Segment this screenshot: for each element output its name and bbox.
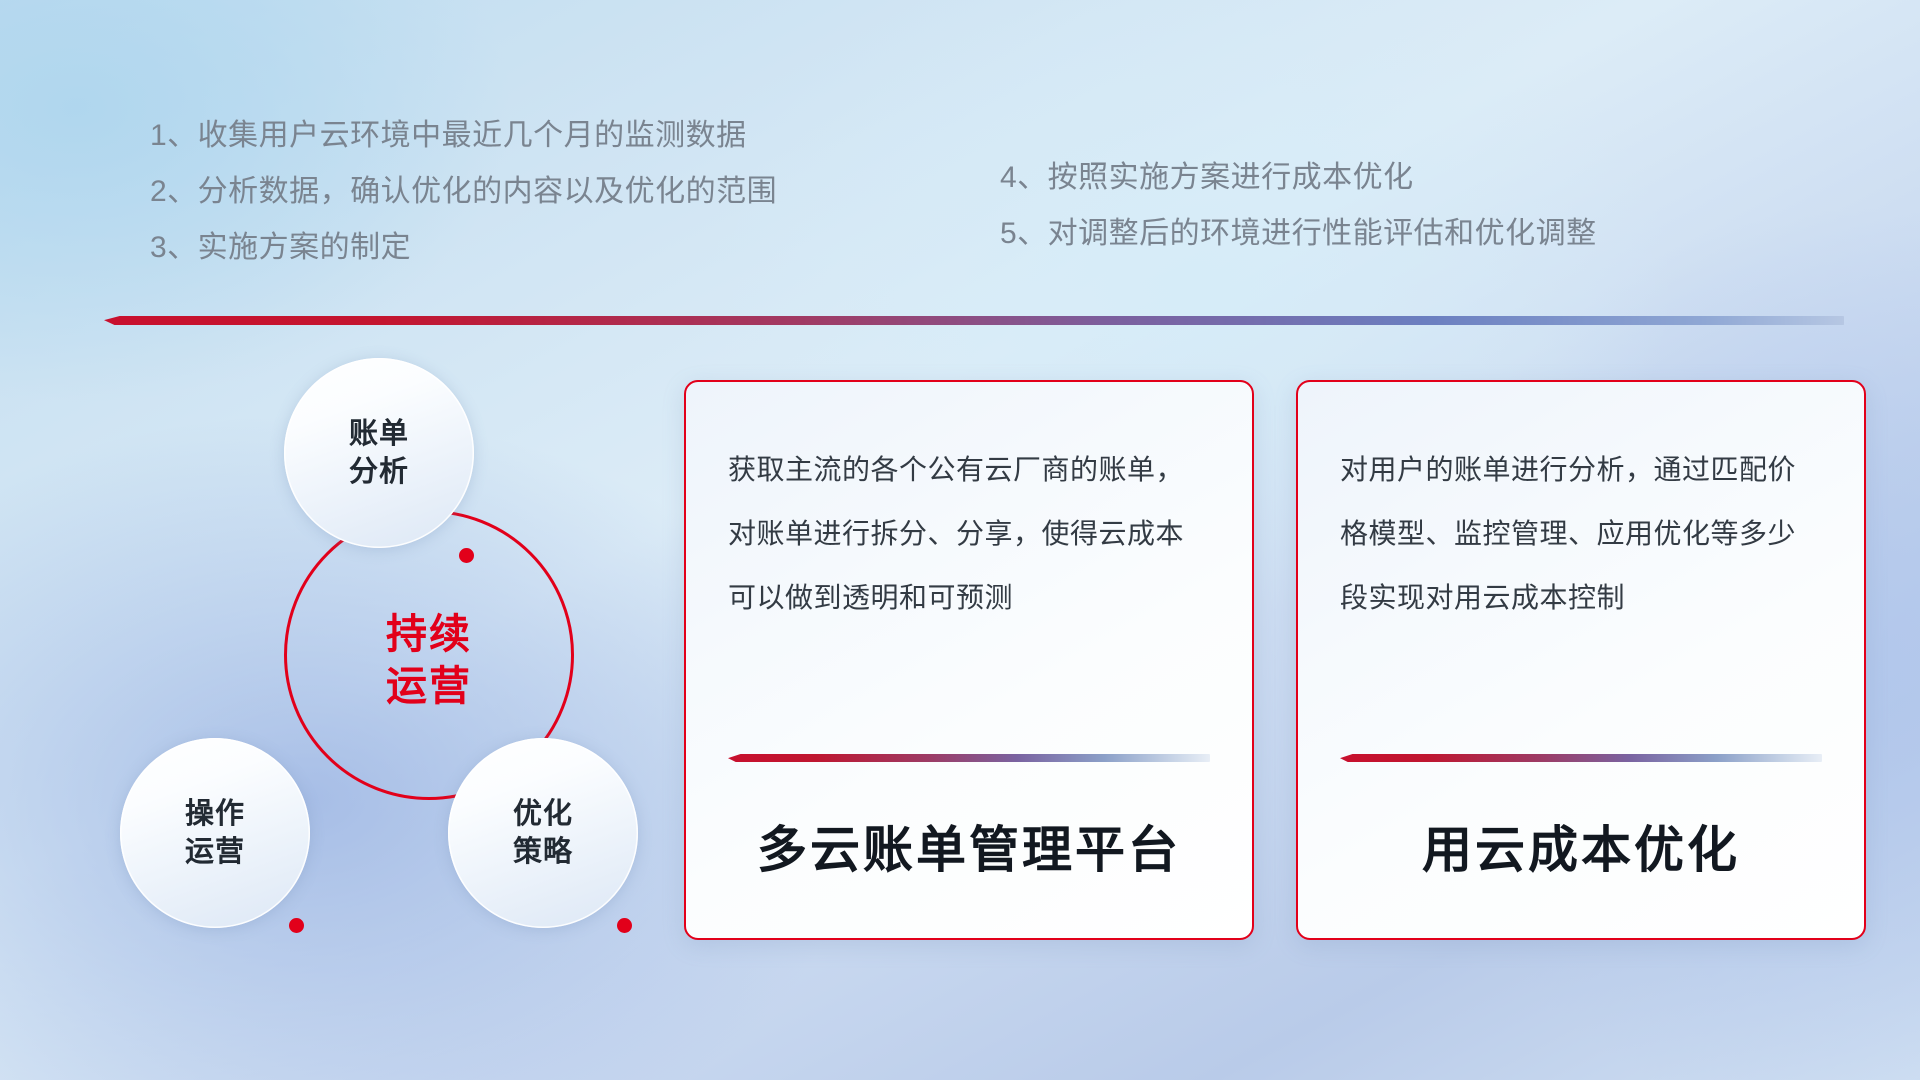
feature-card-cost-optimization[interactable]: 对用户的账单进行分析，通过匹配价格模型、监控管理、应用优化等多少段实现对用云成本… (1296, 380, 1866, 940)
venn-center-label: 持续 运营 (284, 605, 574, 715)
venn-center-line1: 持续 (386, 611, 472, 657)
feature-card-billing-platform[interactable]: 获取主流的各个公有云厂商的账单，对账单进行拆分、分享，使得云成本可以做到透明和可… (684, 380, 1254, 940)
feature-card-title: 多云账单管理平台 (728, 762, 1210, 938)
feature-card-body: 对用户的账单进行分析，通过匹配价格模型、监控管理、应用优化等多少段实现对用云成本… (1340, 438, 1822, 630)
venn-node-dot-top (459, 548, 474, 563)
feature-card-title: 用云成本优化 (1340, 762, 1822, 938)
venn-bubble-bottom-right-line1: 优化 (513, 798, 573, 830)
venn-bubble-top-line2: 分析 (349, 456, 409, 488)
venn-bubble-bottom-left[interactable]: 操作 运营 (120, 738, 310, 928)
feature-card-divider (1340, 754, 1822, 762)
venn-diagram: 账单 分析 操作 运营 优化 策略 持续 运营 (96, 350, 616, 950)
venn-bubble-top[interactable]: 账单 分析 (284, 358, 474, 548)
section-divider-rule (104, 316, 1844, 325)
steps-column-left: 1、收集用户云环境中最近几个月的监测数据 2、分析数据，确认优化的内容以及优化的… (150, 108, 777, 276)
venn-node-dot-bottom-left (289, 918, 304, 933)
venn-bubble-top-line1: 账单 (349, 418, 409, 450)
step-item-2: 2、分析数据，确认优化的内容以及优化的范围 (150, 164, 777, 220)
venn-bubble-bottom-left-line2: 运营 (185, 836, 245, 868)
venn-bubble-bottom-right-line2: 策略 (513, 836, 573, 868)
venn-center-line2: 运营 (386, 663, 472, 709)
step-item-3: 3、实施方案的制定 (150, 220, 777, 276)
venn-bubble-bottom-left-line1: 操作 (185, 798, 245, 830)
steps-column-right: 4、按照实施方案进行成本优化 5、对调整后的环境进行性能评估和优化调整 (1000, 150, 1597, 262)
step-item-4: 4、按照实施方案进行成本优化 (1000, 150, 1597, 206)
step-item-5: 5、对调整后的环境进行性能评估和优化调整 (1000, 206, 1597, 262)
feature-card-body: 获取主流的各个公有云厂商的账单，对账单进行拆分、分享，使得云成本可以做到透明和可… (728, 438, 1210, 630)
feature-card-divider (728, 754, 1210, 762)
venn-bubble-bottom-right[interactable]: 优化 策略 (448, 738, 638, 928)
step-item-1: 1、收集用户云环境中最近几个月的监测数据 (150, 108, 777, 164)
venn-node-dot-bottom-right (617, 918, 632, 933)
